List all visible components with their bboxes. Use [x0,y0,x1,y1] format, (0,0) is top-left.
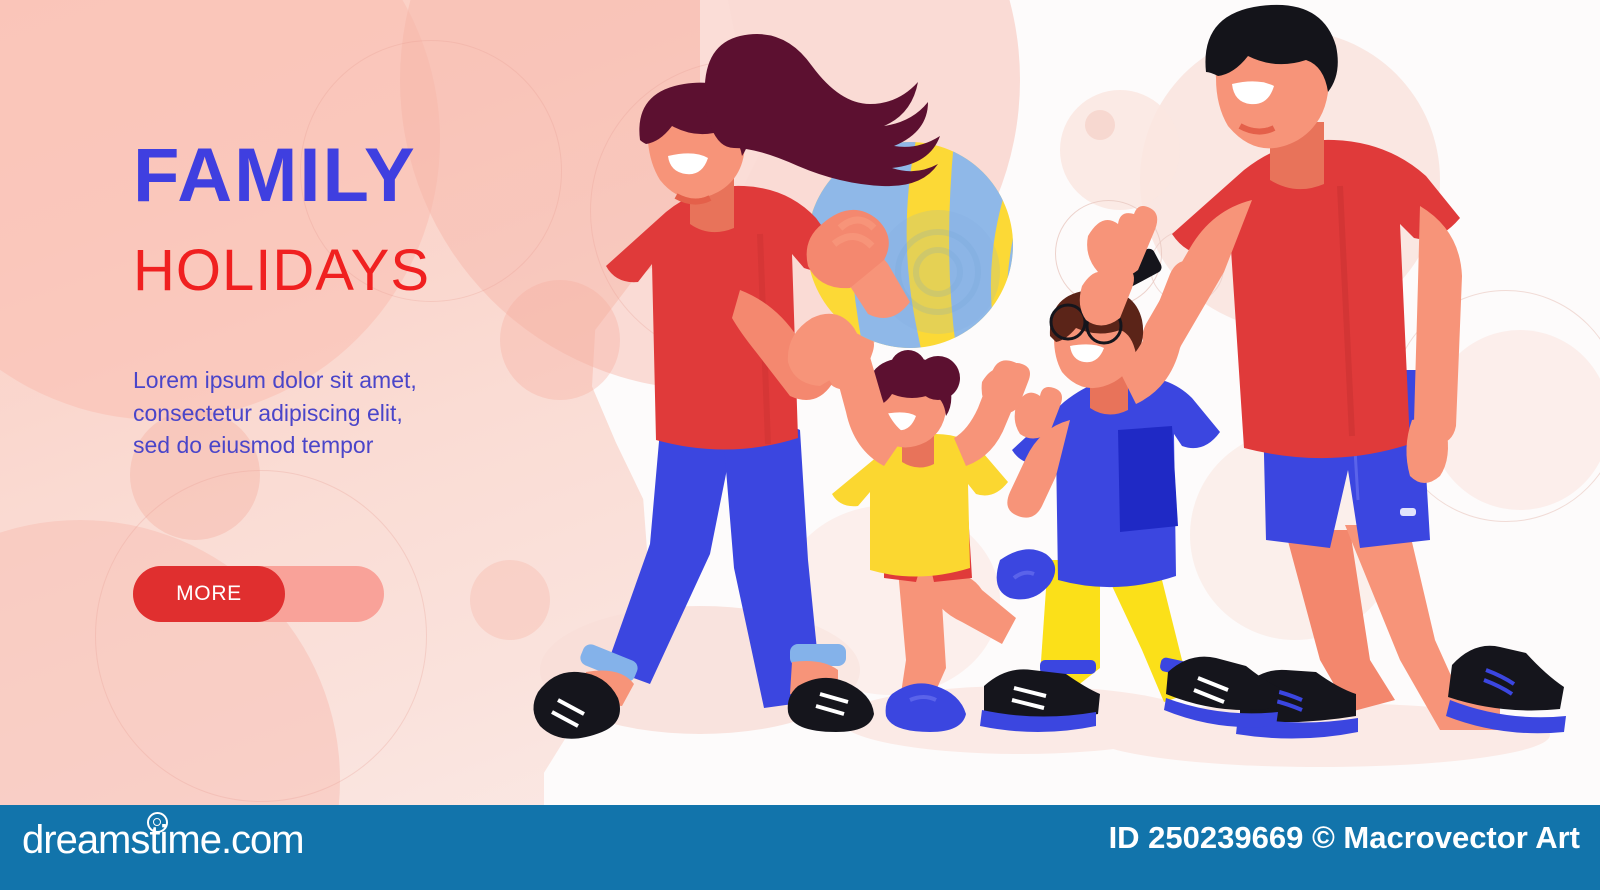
body-copy-line: Lorem ipsum dolor sit amet, [133,367,417,393]
more-button[interactable]: MORE [133,566,285,622]
spiral-icon [147,812,168,833]
body-copy-line: consectetur adipiscing elit, [133,400,403,426]
banner-canvas: FAMILY HOLIDAYS Lorem ipsum dolor sit am… [0,0,1600,890]
girl-hair-bun [890,350,926,386]
page-subtitle: HOLIDAYS [133,241,593,302]
father-right-hand [1406,418,1448,483]
body-copy: Lorem ipsum dolor sit amet, consectetur … [133,364,593,462]
boy-shirt-panel [1118,426,1178,532]
page-title: FAMILY [133,140,593,213]
father-right-arm [1414,206,1462,444]
father-shoe-front [1446,646,1566,733]
more-button-group[interactable]: MORE [133,566,384,622]
copy-block: FAMILY HOLIDAYS Lorem ipsum dolor sit am… [133,140,593,462]
character-boy [980,261,1280,733]
image-credit: ID 250239669 © Macrovector Art [1109,820,1580,856]
body-copy-line: sed do eiusmod tempor [133,432,373,458]
